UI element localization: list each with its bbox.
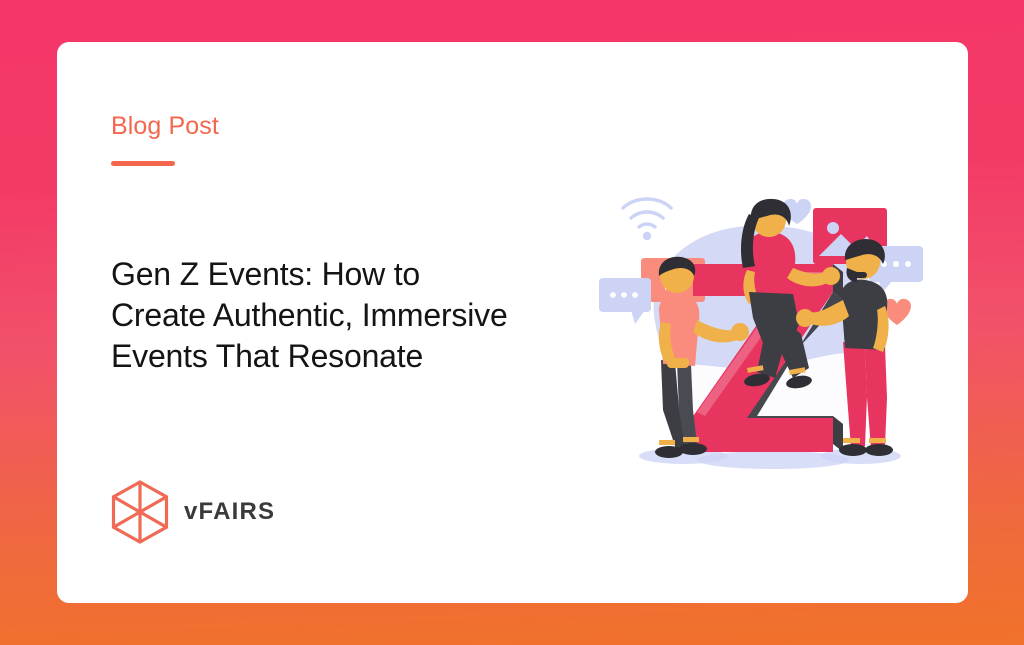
chat-bubble-left-icon <box>599 278 651 324</box>
wifi-icon <box>623 199 671 227</box>
eyebrow-underline <box>111 161 175 166</box>
page-title: Gen Z Events: How to Create Authentic, I… <box>111 254 621 377</box>
logo-wordmark: vFAIRS <box>184 500 275 524</box>
hexagon-logo-icon <box>109 479 171 545</box>
eyebrow-label: Blog Post <box>111 112 219 141</box>
title-line-2: Create Authentic, Immersive <box>111 295 621 336</box>
wifi-dot-icon <box>643 232 651 240</box>
title-line-3: Events That Resonate <box>111 336 621 377</box>
blog-post-card: Blog Post Gen Z Events: How to Create Au… <box>57 42 968 603</box>
gen-z-illustration <box>597 172 927 502</box>
vfairs-logo[interactable]: vFAIRS <box>109 479 275 545</box>
title-line-1: Gen Z Events: How to <box>111 254 621 295</box>
